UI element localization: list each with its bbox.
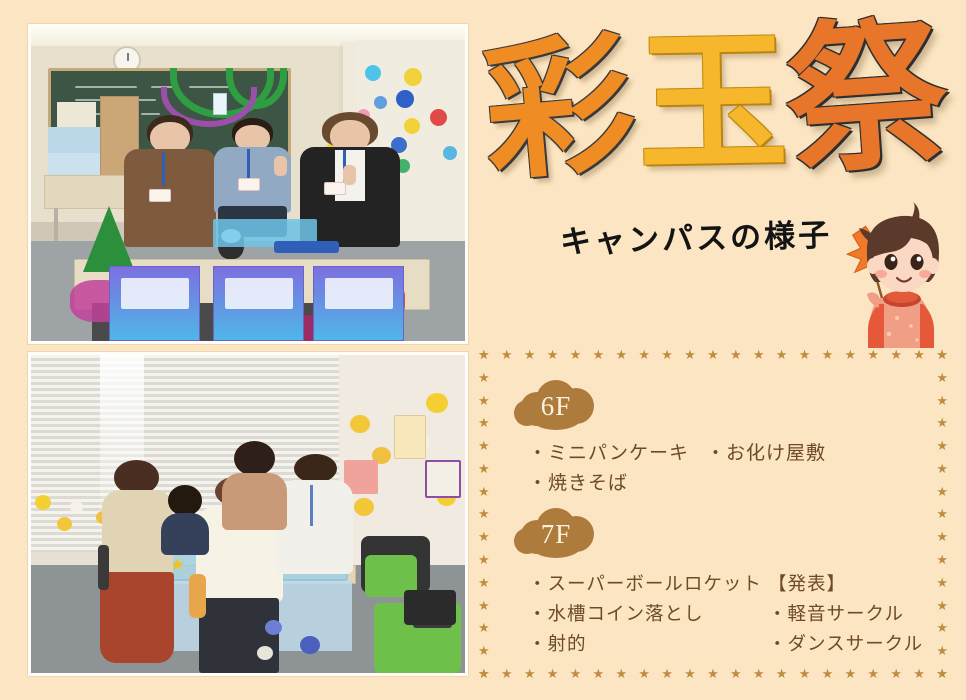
border-star: ★ [478, 371, 490, 384]
border-star: ★ [936, 416, 948, 429]
border-star: ★ [478, 530, 490, 543]
border-star: ★ [890, 667, 902, 680]
list-item: ・スーパーボールロケット [528, 570, 762, 600]
border-star: ★ [478, 599, 490, 612]
border-star: ★ [524, 348, 536, 361]
poster-subtitle: キャンパスの様子 [559, 209, 832, 261]
border-star: ★ [822, 667, 834, 680]
border-star: ★ [638, 348, 650, 361]
border-star: ★ [936, 462, 948, 475]
border-star: ★ [936, 644, 948, 657]
panel-border-bottom: ★★★★★★★★★★★★★★★★★★★★★ [478, 667, 948, 680]
border-star: ★ [845, 348, 857, 361]
border-star: ★ [776, 667, 788, 680]
border-star: ★ [570, 348, 582, 361]
border-star: ★ [684, 667, 696, 680]
border-star: ★ [570, 667, 582, 680]
border-star: ★ [753, 667, 765, 680]
border-star: ★ [936, 348, 948, 361]
border-star: ★ [478, 644, 490, 657]
title-char-2: 玉 [636, 17, 793, 192]
border-star: ★ [936, 530, 948, 543]
border-star: ★ [593, 667, 605, 680]
border-star: ★ [615, 667, 627, 680]
border-star: ★ [524, 667, 536, 680]
floor-7f-right-list: 【発表】 ・軽音サークル ・ダンスサークル [768, 570, 923, 660]
border-star: ★ [478, 507, 490, 520]
list-item: ・ダンスサークル [768, 630, 923, 660]
border-star: ★ [936, 371, 948, 384]
border-star: ★ [936, 667, 948, 680]
border-star: ★ [638, 667, 650, 680]
border-star: ★ [936, 507, 948, 520]
water-tank-booth-photo: ★ ★ [28, 352, 468, 676]
border-star: ★ [936, 576, 948, 589]
floor-badge-6f: 6F [510, 378, 602, 434]
list-item: ・ミニパンケーキ [528, 438, 689, 468]
border-star: ★ [890, 348, 902, 361]
title-char-3: 祭 [779, 0, 958, 197]
festival-poster: ★ ★ [0, 0, 966, 700]
border-star: ★ [913, 348, 925, 361]
presentation-heading: 【発表】 [768, 570, 923, 600]
border-star: ★ [478, 462, 490, 475]
border-star: ★ [936, 599, 948, 612]
border-star: ★ [593, 348, 605, 361]
border-star: ★ [913, 667, 925, 680]
border-star: ★ [799, 348, 811, 361]
floor-6f-right-list: ・お化け屋敷 [706, 438, 826, 468]
border-star: ★ [478, 394, 490, 407]
border-star: ★ [547, 348, 559, 361]
floor-badge-7f: 7F [510, 506, 602, 562]
list-item: ・焼きそば [528, 468, 689, 498]
list-item: ・水槽コイン落とし [528, 600, 762, 630]
border-star: ★ [478, 621, 490, 634]
border-star: ★ [936, 394, 948, 407]
border-star: ★ [501, 348, 513, 361]
border-star: ★ [547, 667, 559, 680]
border-star: ★ [684, 348, 696, 361]
list-item: ・お化け屋敷 [706, 438, 826, 468]
border-star: ★ [478, 667, 490, 680]
list-item: ・射的 [528, 630, 762, 660]
border-star: ★ [936, 439, 948, 452]
border-star: ★ [867, 667, 879, 680]
border-star: ★ [478, 485, 490, 498]
border-star: ★ [707, 667, 719, 680]
panel-border-left: ★★★★★★★★★★★★★★★ [478, 348, 490, 680]
panel-border-right: ★★★★★★★★★★★★★★★ [936, 348, 948, 680]
border-star: ★ [867, 348, 879, 361]
floor-label-7f: 7F [541, 519, 572, 550]
panel-border-top: ★★★★★★★★★★★★★★★★★★★★★ [478, 348, 948, 361]
border-star: ★ [501, 667, 513, 680]
border-star: ★ [478, 348, 490, 361]
floor-6f-left-list: ・ミニパンケーキ ・焼きそば [528, 438, 689, 498]
border-star: ★ [661, 348, 673, 361]
list-item: ・軽音サークル [768, 600, 923, 630]
border-star: ★ [661, 667, 673, 680]
border-star: ★ [730, 348, 742, 361]
program-panel: ★★★★★★★★★★★★★★★★★★★★★ ★★★★★★★★★★★★★★★★★★… [474, 344, 952, 684]
title-char-1: 彩 [477, 17, 645, 202]
border-star: ★ [478, 416, 490, 429]
border-star: ★ [707, 348, 719, 361]
border-star: ★ [822, 348, 834, 361]
floor-7f-left-list: ・スーパーボールロケット ・水槽コイン落とし ・射的 [528, 570, 762, 660]
border-star: ★ [936, 621, 948, 634]
border-star: ★ [730, 667, 742, 680]
poster-title: 彩玉祭 [474, 18, 956, 208]
border-star: ★ [776, 348, 788, 361]
boy-with-maple-leaf-illustration [845, 200, 963, 348]
border-star: ★ [615, 348, 627, 361]
border-star: ★ [936, 553, 948, 566]
border-star: ★ [478, 439, 490, 452]
border-star: ★ [845, 667, 857, 680]
classroom-booth-photo [28, 24, 468, 344]
border-star: ★ [799, 667, 811, 680]
border-star: ★ [753, 348, 765, 361]
border-star: ★ [936, 485, 948, 498]
border-star: ★ [478, 576, 490, 589]
floor-label-6f: 6F [541, 391, 572, 422]
border-star: ★ [478, 553, 490, 566]
